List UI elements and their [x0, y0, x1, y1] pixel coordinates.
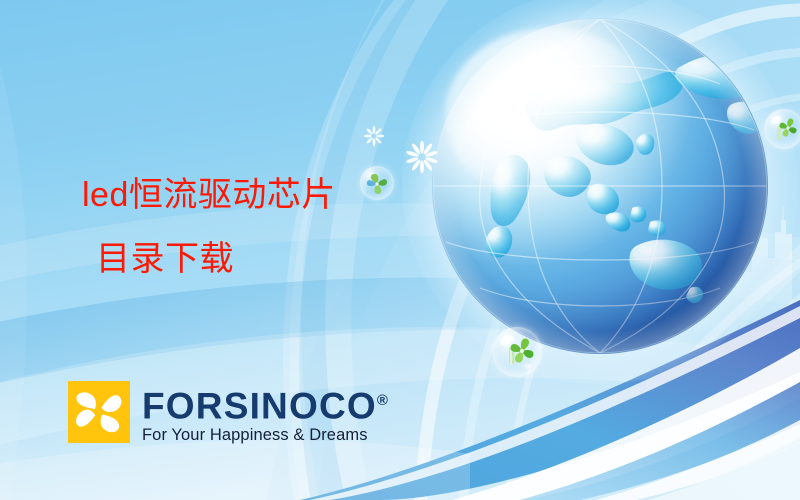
- four-petal-pinwheel-icon: [68, 381, 130, 443]
- logo-text-block: FORSINOCO® For Your Happiness & Dreams: [142, 381, 388, 445]
- registered-trademark-icon: ®: [377, 392, 388, 409]
- bubble-pinwheel-small: [360, 166, 394, 200]
- logo-wordmark-text: FORSINOCO: [142, 385, 377, 426]
- page-title: led恒流驱动芯片 目录下载: [82, 163, 336, 291]
- sparkle-flower-left: [406, 141, 438, 173]
- headline-line-1: led恒流驱动芯片: [82, 176, 336, 214]
- company-logo[interactable]: FORSINOCO® For Your Happiness & Dreams: [68, 381, 388, 445]
- bubble-pinwheel-large: [492, 327, 542, 377]
- sparkle-flower-small: [364, 126, 384, 146]
- logo-tagline: For Your Happiness & Dreams: [142, 425, 388, 445]
- globe-icon: [432, 18, 768, 354]
- promo-banner: led恒流驱动芯片 目录下载 FORSINOCO®: [0, 0, 800, 500]
- headline-line-2: 目录下载: [82, 227, 336, 291]
- bubble-pinwheel-edge: [764, 109, 800, 149]
- logo-wordmark: FORSINOCO®: [142, 383, 388, 424]
